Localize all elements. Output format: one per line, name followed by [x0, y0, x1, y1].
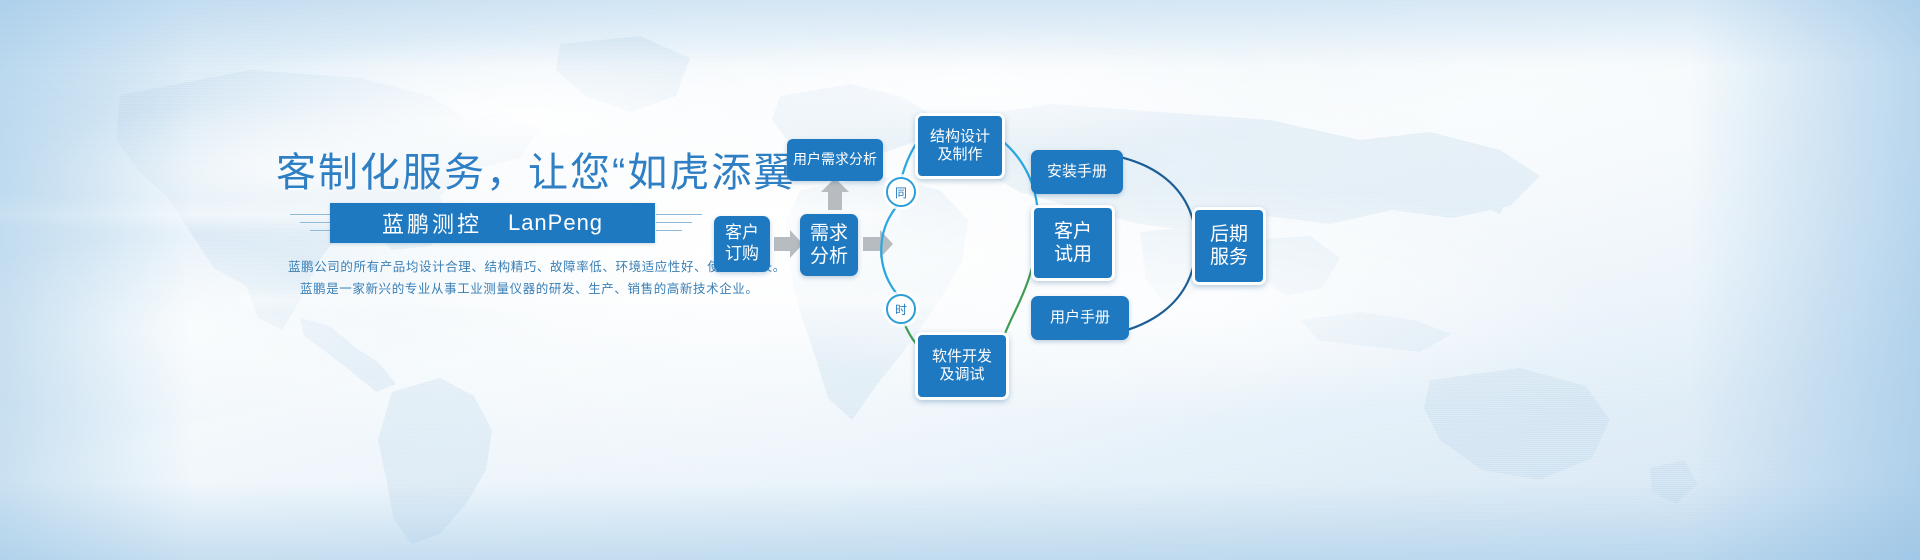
page-title: 客制化服务，让您“如虎添翼” — [276, 140, 811, 198]
flow-box-label: 安装手册 — [1047, 163, 1107, 181]
flow-box-label-line1: 结构设计 — [930, 128, 990, 146]
flow-box-label: 用户手册 — [1050, 309, 1110, 327]
flow-box-label-line1: 软件开发 — [932, 348, 992, 366]
brand-name-cn: 蓝鹏测控 — [382, 207, 482, 239]
flow-box-label-line1: 客户 — [725, 223, 759, 244]
flow-box-label-line2: 及制作 — [930, 146, 990, 164]
brand-bar: 蓝鹏测控 LanPeng — [330, 203, 655, 243]
flow-box-label-line2: 服务 — [1210, 246, 1248, 269]
flow-box-user-need[interactable]: 用户需求分析 — [787, 139, 883, 181]
flow-box-label: 客户 试用 — [1054, 220, 1092, 266]
flow-box-label-line1: 客户 — [1054, 220, 1092, 243]
flow-box-label: 用户需求分析 — [793, 151, 877, 168]
flow-box-label-line1: 需求 — [810, 222, 848, 245]
flow-box-structural-design[interactable]: 结构设计 及制作 — [915, 113, 1005, 179]
world-map-background — [0, 0, 1920, 560]
decor-line-right-3 — [656, 230, 682, 231]
flow-box-label-line2: 订购 — [725, 244, 759, 265]
flow-box-label-line2: 试用 — [1054, 243, 1092, 266]
banner-stage: 客制化服务，让您“如虎添翼” 蓝鹏测控 LanPeng 蓝鹏公司的所有产品均设计… — [0, 0, 1920, 560]
decor-line-right-1 — [656, 214, 702, 215]
flow-box-installation-manual[interactable]: 安装手册 — [1031, 150, 1123, 194]
flow-box-user-manual[interactable]: 用户手册 — [1031, 296, 1129, 340]
flow-box-label: 软件开发 及调试 — [932, 348, 992, 385]
flow-box-label: 需求 分析 — [810, 222, 848, 268]
flow-box-demand-analysis[interactable]: 需求 分析 — [800, 214, 858, 276]
flow-box-label: 后期 服务 — [1210, 223, 1248, 269]
flow-box-after-sales-service[interactable]: 后期 服务 — [1192, 207, 1266, 285]
flow-node-label: 时 — [895, 301, 907, 318]
flow-box-label-line1: 后期 — [1210, 223, 1248, 246]
flow-node-tong[interactable]: 同 — [886, 177, 916, 207]
flow-box-customer-order[interactable]: 客户 订购 — [714, 216, 770, 272]
flow-box-label: 客户 订购 — [725, 223, 759, 264]
flow-box-software-development[interactable]: 软件开发 及调试 — [915, 332, 1009, 400]
flow-box-customer-trial[interactable]: 客户 试用 — [1031, 205, 1115, 281]
flow-box-label-line2: 及调试 — [932, 366, 992, 384]
flow-node-shi[interactable]: 时 — [886, 294, 916, 324]
flow-box-label: 结构设计 及制作 — [930, 128, 990, 165]
flow-box-label-line2: 分析 — [810, 245, 848, 268]
decor-line-right-2 — [656, 222, 692, 223]
description-line-1: 蓝鹏公司的所有产品均设计合理、结构精巧、故障率低、环境适应性好、使用寿命长。 — [288, 256, 786, 275]
flow-node-label: 同 — [895, 184, 907, 201]
brand-name-en: LanPeng — [508, 210, 603, 236]
description-line-2: 蓝鹏是一家新兴的专业从事工业测量仪器的研发、生产、销售的高新技术企业。 — [300, 278, 759, 297]
